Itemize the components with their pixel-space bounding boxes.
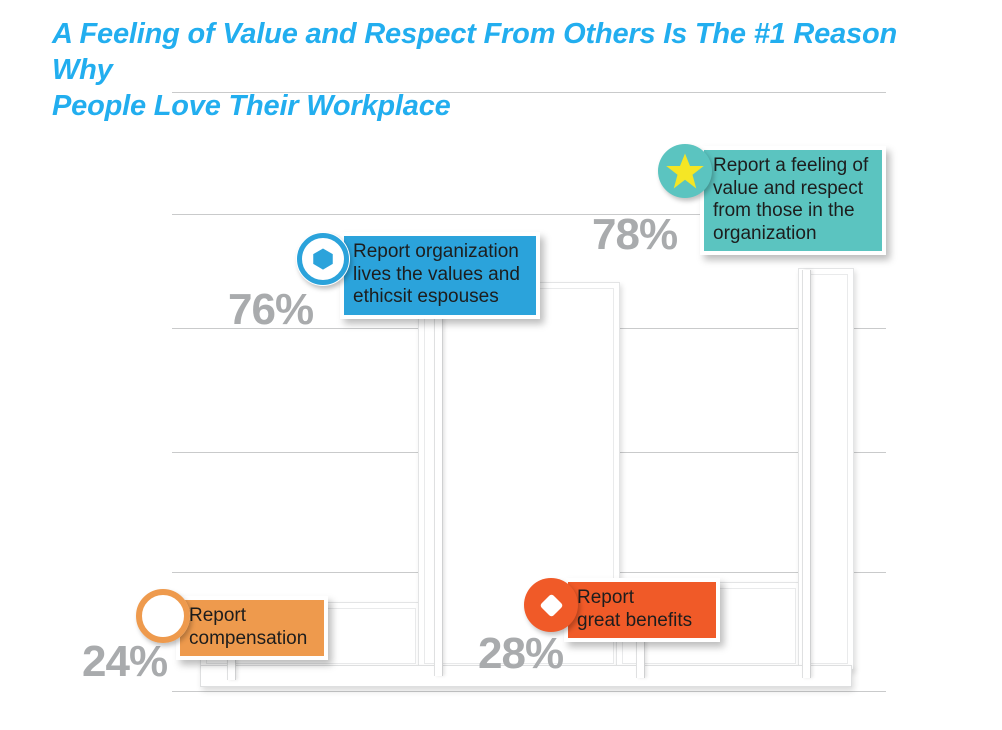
diamond-icon xyxy=(524,578,578,632)
callout-compensation-label: Report compensation xyxy=(180,600,324,656)
callout-compensation[interactable]: Report compensation xyxy=(176,596,328,660)
hexagon-icon xyxy=(296,232,350,286)
percent-label-24: 24% xyxy=(82,640,167,684)
callout-values-ethics-label: Report organization lives the values and… xyxy=(344,236,536,315)
percent-label-78: 78% xyxy=(592,213,677,257)
callout-values-ethics[interactable]: Report organization lives the values and… xyxy=(340,232,540,319)
gridline-100 xyxy=(172,92,886,93)
callout-value-respect-label: Report a feeling of value and respect fr… xyxy=(704,150,882,251)
callout-great-benefits-label: Report great benefits xyxy=(568,582,716,638)
gridline-0 xyxy=(172,691,886,692)
callout-value-respect[interactable]: Report a feeling of value and respect fr… xyxy=(700,146,886,255)
percent-label-76: 76% xyxy=(228,288,313,332)
post-value-respect xyxy=(802,270,811,678)
star-icon xyxy=(658,144,712,198)
callout-great-benefits[interactable]: Report great benefits xyxy=(564,578,720,642)
post-values-ethics xyxy=(434,304,443,676)
ring-icon xyxy=(136,589,190,643)
percent-label-28: 28% xyxy=(478,632,563,676)
